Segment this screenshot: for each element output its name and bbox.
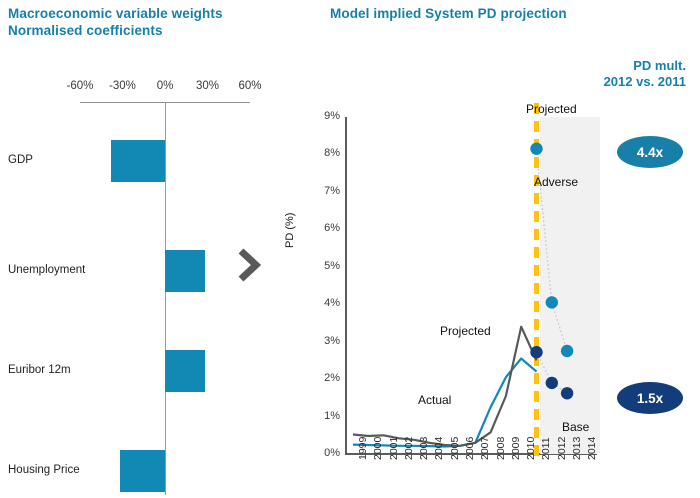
pd-mult-line1: PD mult. bbox=[486, 58, 686, 74]
left-panel-title: Macroeconomic variable weights Normalise… bbox=[8, 5, 338, 39]
bar-axis-tick-2: 0% bbox=[145, 80, 185, 92]
annotation-projected-divider: Projected bbox=[526, 102, 577, 116]
x-tick-2013: 2013 bbox=[571, 437, 583, 460]
chevron-right-icon bbox=[236, 248, 262, 282]
annotation-actual-line: Actual bbox=[418, 393, 451, 407]
x-tick-2002: 2002 bbox=[403, 437, 415, 460]
annotation-base: Base bbox=[562, 420, 589, 434]
x-tick-2012: 2012 bbox=[556, 437, 568, 460]
bar-axis-tick-1: -30% bbox=[103, 80, 143, 92]
badge-adverse-multiplier[interactable]: 4.4x bbox=[617, 136, 683, 168]
marker-adverse-1 bbox=[546, 296, 558, 308]
x-tick-2008: 2008 bbox=[495, 437, 507, 460]
marker-base-2 bbox=[561, 387, 573, 399]
x-tick-1999: 1999 bbox=[357, 437, 369, 460]
x-tick-2009: 2009 bbox=[510, 437, 522, 460]
x-tick-2000: 2000 bbox=[372, 437, 384, 460]
bar-label-euribor-12m: Euribor 12m bbox=[8, 364, 158, 376]
x-tick-2005: 2005 bbox=[449, 437, 461, 460]
bar-axis-tick-4: 60% bbox=[230, 80, 270, 92]
marker-base-0 bbox=[530, 346, 542, 358]
annotation-projected-line: Projected bbox=[440, 324, 491, 338]
right-panel-title: Model implied System PD projection bbox=[330, 5, 670, 22]
macro-weights-bar-chart: -60%-30%0%30%60% GDPUnemploymentEuribor … bbox=[0, 80, 290, 498]
bar-chart-zero-line bbox=[165, 102, 166, 495]
bar-axis-tick-3: 30% bbox=[188, 80, 228, 92]
left-title-line1: Macroeconomic variable weights bbox=[8, 5, 338, 22]
bar-label-housing-price: Housing Price bbox=[8, 464, 158, 476]
x-tick-2003: 2003 bbox=[418, 437, 430, 460]
bar-axis-tick-0: -60% bbox=[60, 80, 100, 92]
x-tick-2004: 2004 bbox=[433, 437, 445, 460]
bar-unemployment bbox=[165, 250, 205, 292]
x-tick-2011: 2011 bbox=[540, 437, 552, 460]
marker-adverse-2 bbox=[561, 345, 573, 357]
annotation-adverse: Adverse bbox=[534, 175, 578, 189]
x-tick-2014: 2014 bbox=[586, 437, 598, 460]
x-tick-2006: 2006 bbox=[464, 437, 476, 460]
marker-base-1 bbox=[546, 377, 558, 389]
x-tick-2001: 2001 bbox=[388, 437, 400, 460]
x-tick-2010: 2010 bbox=[525, 437, 537, 460]
left-title-line2: Normalised coefficients bbox=[8, 22, 338, 39]
bar-label-unemployment: Unemployment bbox=[8, 264, 158, 276]
bar-label-gdp: GDP bbox=[8, 154, 158, 166]
bar-euribor-12m bbox=[165, 350, 205, 392]
badge-base-multiplier[interactable]: 1.5x bbox=[617, 382, 683, 414]
marker-adverse-0 bbox=[530, 143, 542, 155]
series-line-projected bbox=[353, 327, 537, 446]
x-tick-2007: 2007 bbox=[479, 437, 491, 460]
